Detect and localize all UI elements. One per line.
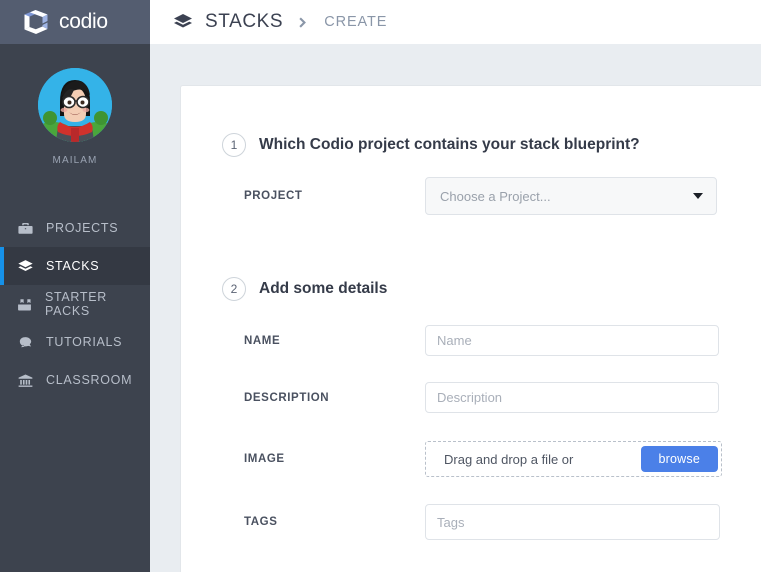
image-field-row: IMAGE Drag and drop a file or browse: [222, 441, 761, 477]
profile-block[interactable]: MAILAM: [0, 44, 150, 166]
chevron-right-icon: [296, 15, 311, 30]
project-select[interactable]: Choose a Project...: [425, 177, 717, 215]
main-area: STACKS CREATE 1 Which Codio project cont…: [150, 0, 761, 572]
app-root: codio: [0, 0, 761, 572]
description-label: DESCRIPTION: [222, 392, 425, 404]
layers-icon: [172, 11, 194, 33]
sidebar-item-stacks[interactable]: STACKS: [0, 247, 150, 285]
dropzone-text: Drag and drop a file or: [444, 452, 573, 467]
create-stack-card: 1 Which Codio project contains your stac…: [180, 85, 761, 572]
sidebar-item-label: TUTORIALS: [46, 335, 122, 349]
breadcrumb-current: CREATE: [324, 14, 387, 30]
name-input[interactable]: [425, 325, 719, 356]
brand-name: codio: [59, 10, 108, 34]
step-2-section: 2 Add some details NAME DESCRIPTION: [222, 277, 761, 540]
chevron-down-icon: [693, 193, 703, 199]
sidebar-item-starter-packs[interactable]: STARTER PACKS: [0, 285, 150, 323]
project-control: Choose a Project...: [425, 177, 761, 215]
image-dropzone[interactable]: Drag and drop a file or browse: [425, 441, 722, 477]
content-background: 1 Which Codio project contains your stac…: [150, 44, 761, 572]
sidebar-item-label: STACKS: [46, 259, 99, 273]
tags-label: TAGS: [222, 516, 425, 528]
description-input[interactable]: [425, 382, 719, 413]
image-label: IMAGE: [222, 453, 425, 465]
layers-icon: [16, 257, 35, 276]
breadcrumb-section[interactable]: STACKS: [205, 11, 283, 33]
step-1-section: 1 Which Codio project contains your stac…: [222, 133, 761, 215]
codio-cube-logo-icon: [22, 9, 50, 35]
sidebar-item-label: CLASSROOM: [46, 373, 132, 387]
step-number: 1: [222, 133, 246, 157]
sidebar-item-tutorials[interactable]: TUTORIALS: [0, 323, 150, 361]
name-label: NAME: [222, 335, 425, 347]
tags-field-row: TAGS: [222, 504, 761, 540]
sidebar-item-label: PROJECTS: [46, 221, 118, 235]
sidebar-item-projects[interactable]: PROJECTS: [0, 209, 150, 247]
name-field-row: NAME: [222, 325, 761, 356]
avatar[interactable]: [38, 68, 112, 142]
step-title: Add some details: [259, 280, 387, 298]
project-field-row: PROJECT Choose a Project...: [222, 177, 761, 215]
graduation-cap-icon: [16, 333, 35, 352]
box-icon: [16, 295, 34, 314]
bank-icon: [16, 371, 35, 390]
tags-control: [425, 504, 761, 540]
sidebar-item-label: STARTER PACKS: [45, 290, 150, 318]
step-2-header: 2 Add some details: [222, 277, 761, 301]
profile-name: MAILAM: [53, 155, 98, 166]
project-select-value: Choose a Project...: [440, 189, 551, 204]
briefcase-icon: [16, 219, 35, 238]
step-1-header: 1 Which Codio project contains your stac…: [222, 133, 761, 157]
sidebar: codio: [0, 0, 150, 572]
brand-logo[interactable]: codio: [0, 0, 150, 44]
browse-button[interactable]: browse: [641, 446, 719, 472]
description-field-row: DESCRIPTION: [222, 382, 761, 413]
sidebar-item-classroom[interactable]: CLASSROOM: [0, 361, 150, 399]
step-number: 2: [222, 277, 246, 301]
breadcrumb: STACKS CREATE: [150, 0, 761, 44]
name-control: [425, 325, 761, 356]
image-control: Drag and drop a file or browse: [425, 441, 761, 477]
sidebar-nav: PROJECTS STACKS STARTER PACKS TUTORIALS: [0, 209, 150, 399]
project-label: PROJECT: [222, 190, 425, 202]
step-title: Which Codio project contains your stack …: [259, 136, 640, 154]
tags-input[interactable]: [425, 504, 720, 540]
description-control: [425, 382, 761, 413]
